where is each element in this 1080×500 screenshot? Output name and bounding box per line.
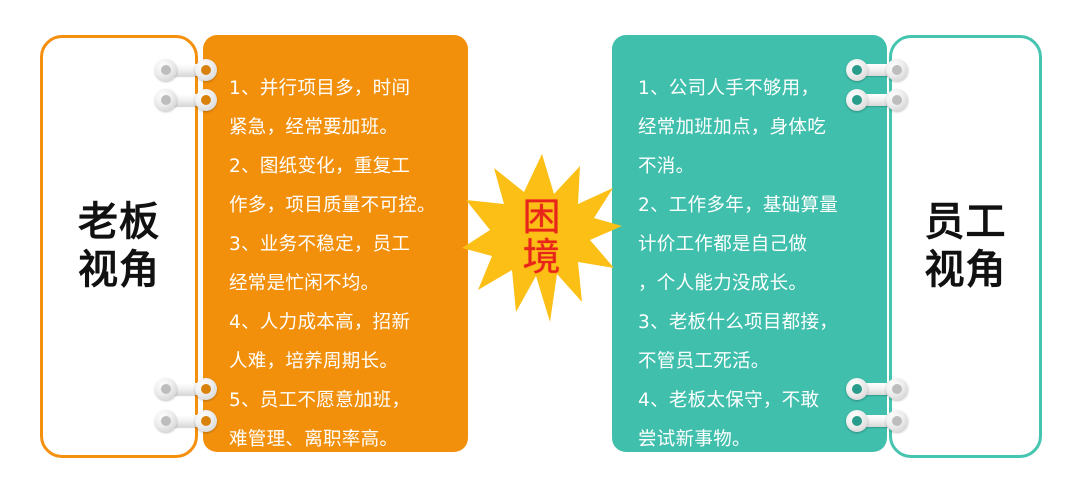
dilemma-label: 困 境 [462, 152, 622, 324]
clip-bottom-left-2 [155, 410, 217, 432]
clip-ring-icon [155, 89, 177, 111]
clip-ring-icon [846, 410, 868, 432]
clip-ring-icon [195, 378, 217, 400]
employee-issue-item: 3、老板什么项目都接， 不管员工死活。 [638, 303, 871, 381]
clip-ring-icon [155, 59, 177, 81]
clip-ring-icon [886, 89, 908, 111]
clip-top-left-1 [155, 59, 217, 81]
clip-ring-icon [155, 410, 177, 432]
clip-ring-icon [846, 59, 868, 81]
clip-ring-icon [846, 378, 868, 400]
boss-issue-item: 2、图纸变化，重复工 作多，项目质量不可控。 [229, 147, 452, 225]
clip-bottom-left-1 [155, 378, 217, 400]
employee-issue-item: 4、老板太保守，不敢 尝试新事物。 [638, 381, 871, 459]
boss-issue-item: 1、并行项目多，时间 紧急，经常要加班。 [229, 69, 452, 147]
infographic-canvas: 老板 视角 1、并行项目多，时间 紧急，经常要加班。 2、图纸变化，重复工 作多… [0, 0, 1080, 500]
clip-ring-icon [886, 410, 908, 432]
clip-ring-icon [195, 410, 217, 432]
boss-issue-item: 5、员工不愿意加班， 难管理、离职率高。 [229, 381, 452, 459]
boss-issue-item: 4、人力成本高，招新 人难，培养周期长。 [229, 303, 452, 381]
clip-top-right-1 [846, 59, 908, 81]
clip-top-right-2 [846, 89, 908, 111]
boss-issues-panel: 1、并行项目多，时间 紧急，经常要加班。 2、图纸变化，重复工 作多，项目质量不… [203, 35, 468, 452]
dilemma-starburst: 困 境 [462, 152, 622, 324]
boss-issue-item: 3、业务不稳定，员工 经常是忙闲不均。 [229, 225, 452, 303]
clip-ring-icon [886, 378, 908, 400]
employee-perspective-card: 员工 视角 [889, 35, 1042, 458]
clip-bottom-right-2 [846, 410, 908, 432]
clip-ring-icon [195, 59, 217, 81]
employee-issue-item: 2、工作多年，基础算量 计价工作都是自己做 ，个人能力没成长。 [638, 186, 871, 303]
clip-bottom-right-1 [846, 378, 908, 400]
clip-ring-icon [846, 89, 868, 111]
clip-ring-icon [195, 89, 217, 111]
clip-top-left-2 [155, 89, 217, 111]
employee-issue-item: 1、公司人手不够用， 经常加班加点，身体吃 不消。 [638, 69, 871, 186]
clip-ring-icon [886, 59, 908, 81]
boss-perspective-title: 老板 视角 [78, 199, 160, 293]
employee-perspective-title: 员工 视角 [925, 199, 1007, 293]
clip-ring-icon [155, 378, 177, 400]
